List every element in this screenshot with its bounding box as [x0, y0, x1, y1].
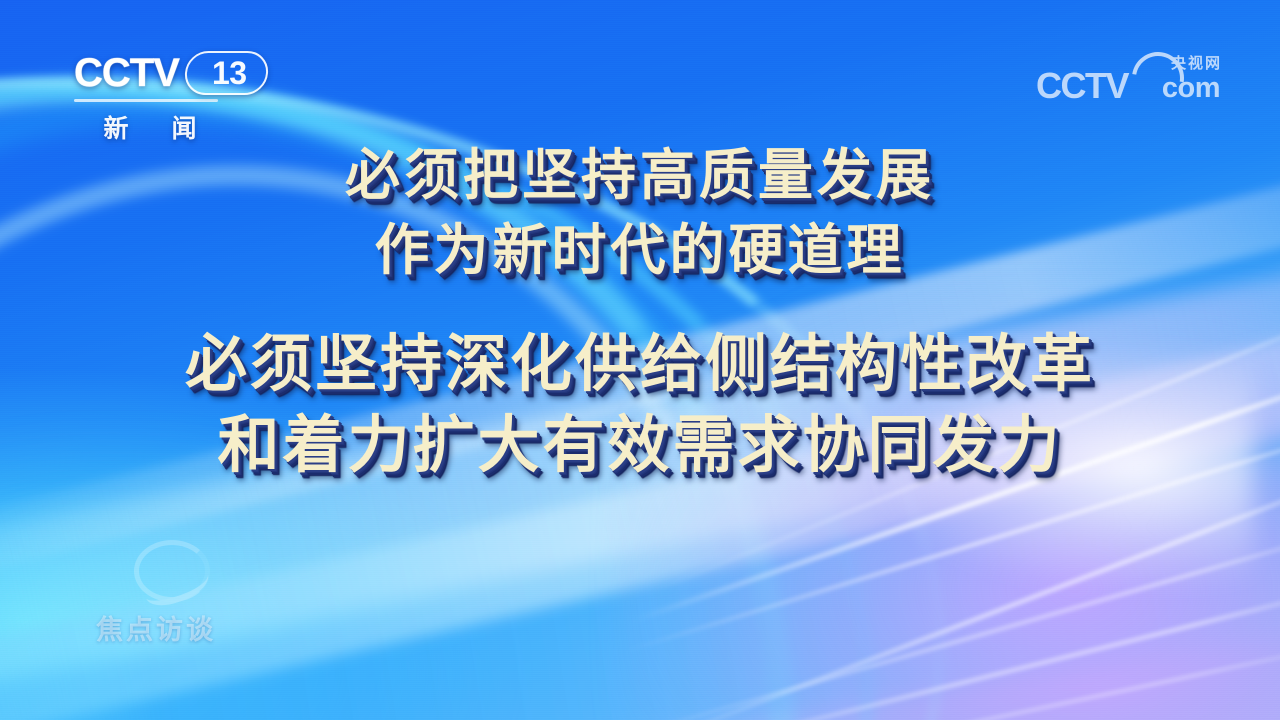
- site-watermark: CCTV 央视网 com: [1036, 52, 1222, 110]
- site-watermark-domain: com: [1162, 74, 1220, 103]
- channel-logo: CCTV 13 新 闻: [74, 50, 274, 145]
- program-watermark: 焦点访谈: [96, 540, 286, 650]
- background-white-highlight: [870, 346, 1254, 591]
- site-watermark-cn-name: 央视网: [1171, 56, 1222, 71]
- channel-logo-underline: [74, 99, 218, 102]
- broadcast-frame: CCTV 13 新 闻 CCTV 央视网 com 焦点访谈 必须把坚持高质量发展…: [0, 0, 1280, 720]
- channel-number-badge: 13: [183, 51, 269, 95]
- channel-name: 新 闻: [74, 109, 226, 145]
- channel-number: 13: [212, 55, 247, 92]
- site-watermark-wordmark: CCTV: [1036, 68, 1128, 104]
- program-logo-icon: [134, 540, 210, 602]
- channel-logo-row: CCTV 13: [74, 50, 274, 96]
- cctv-wordmark: CCTV: [74, 51, 179, 96]
- program-name: 焦点访谈: [96, 608, 286, 647]
